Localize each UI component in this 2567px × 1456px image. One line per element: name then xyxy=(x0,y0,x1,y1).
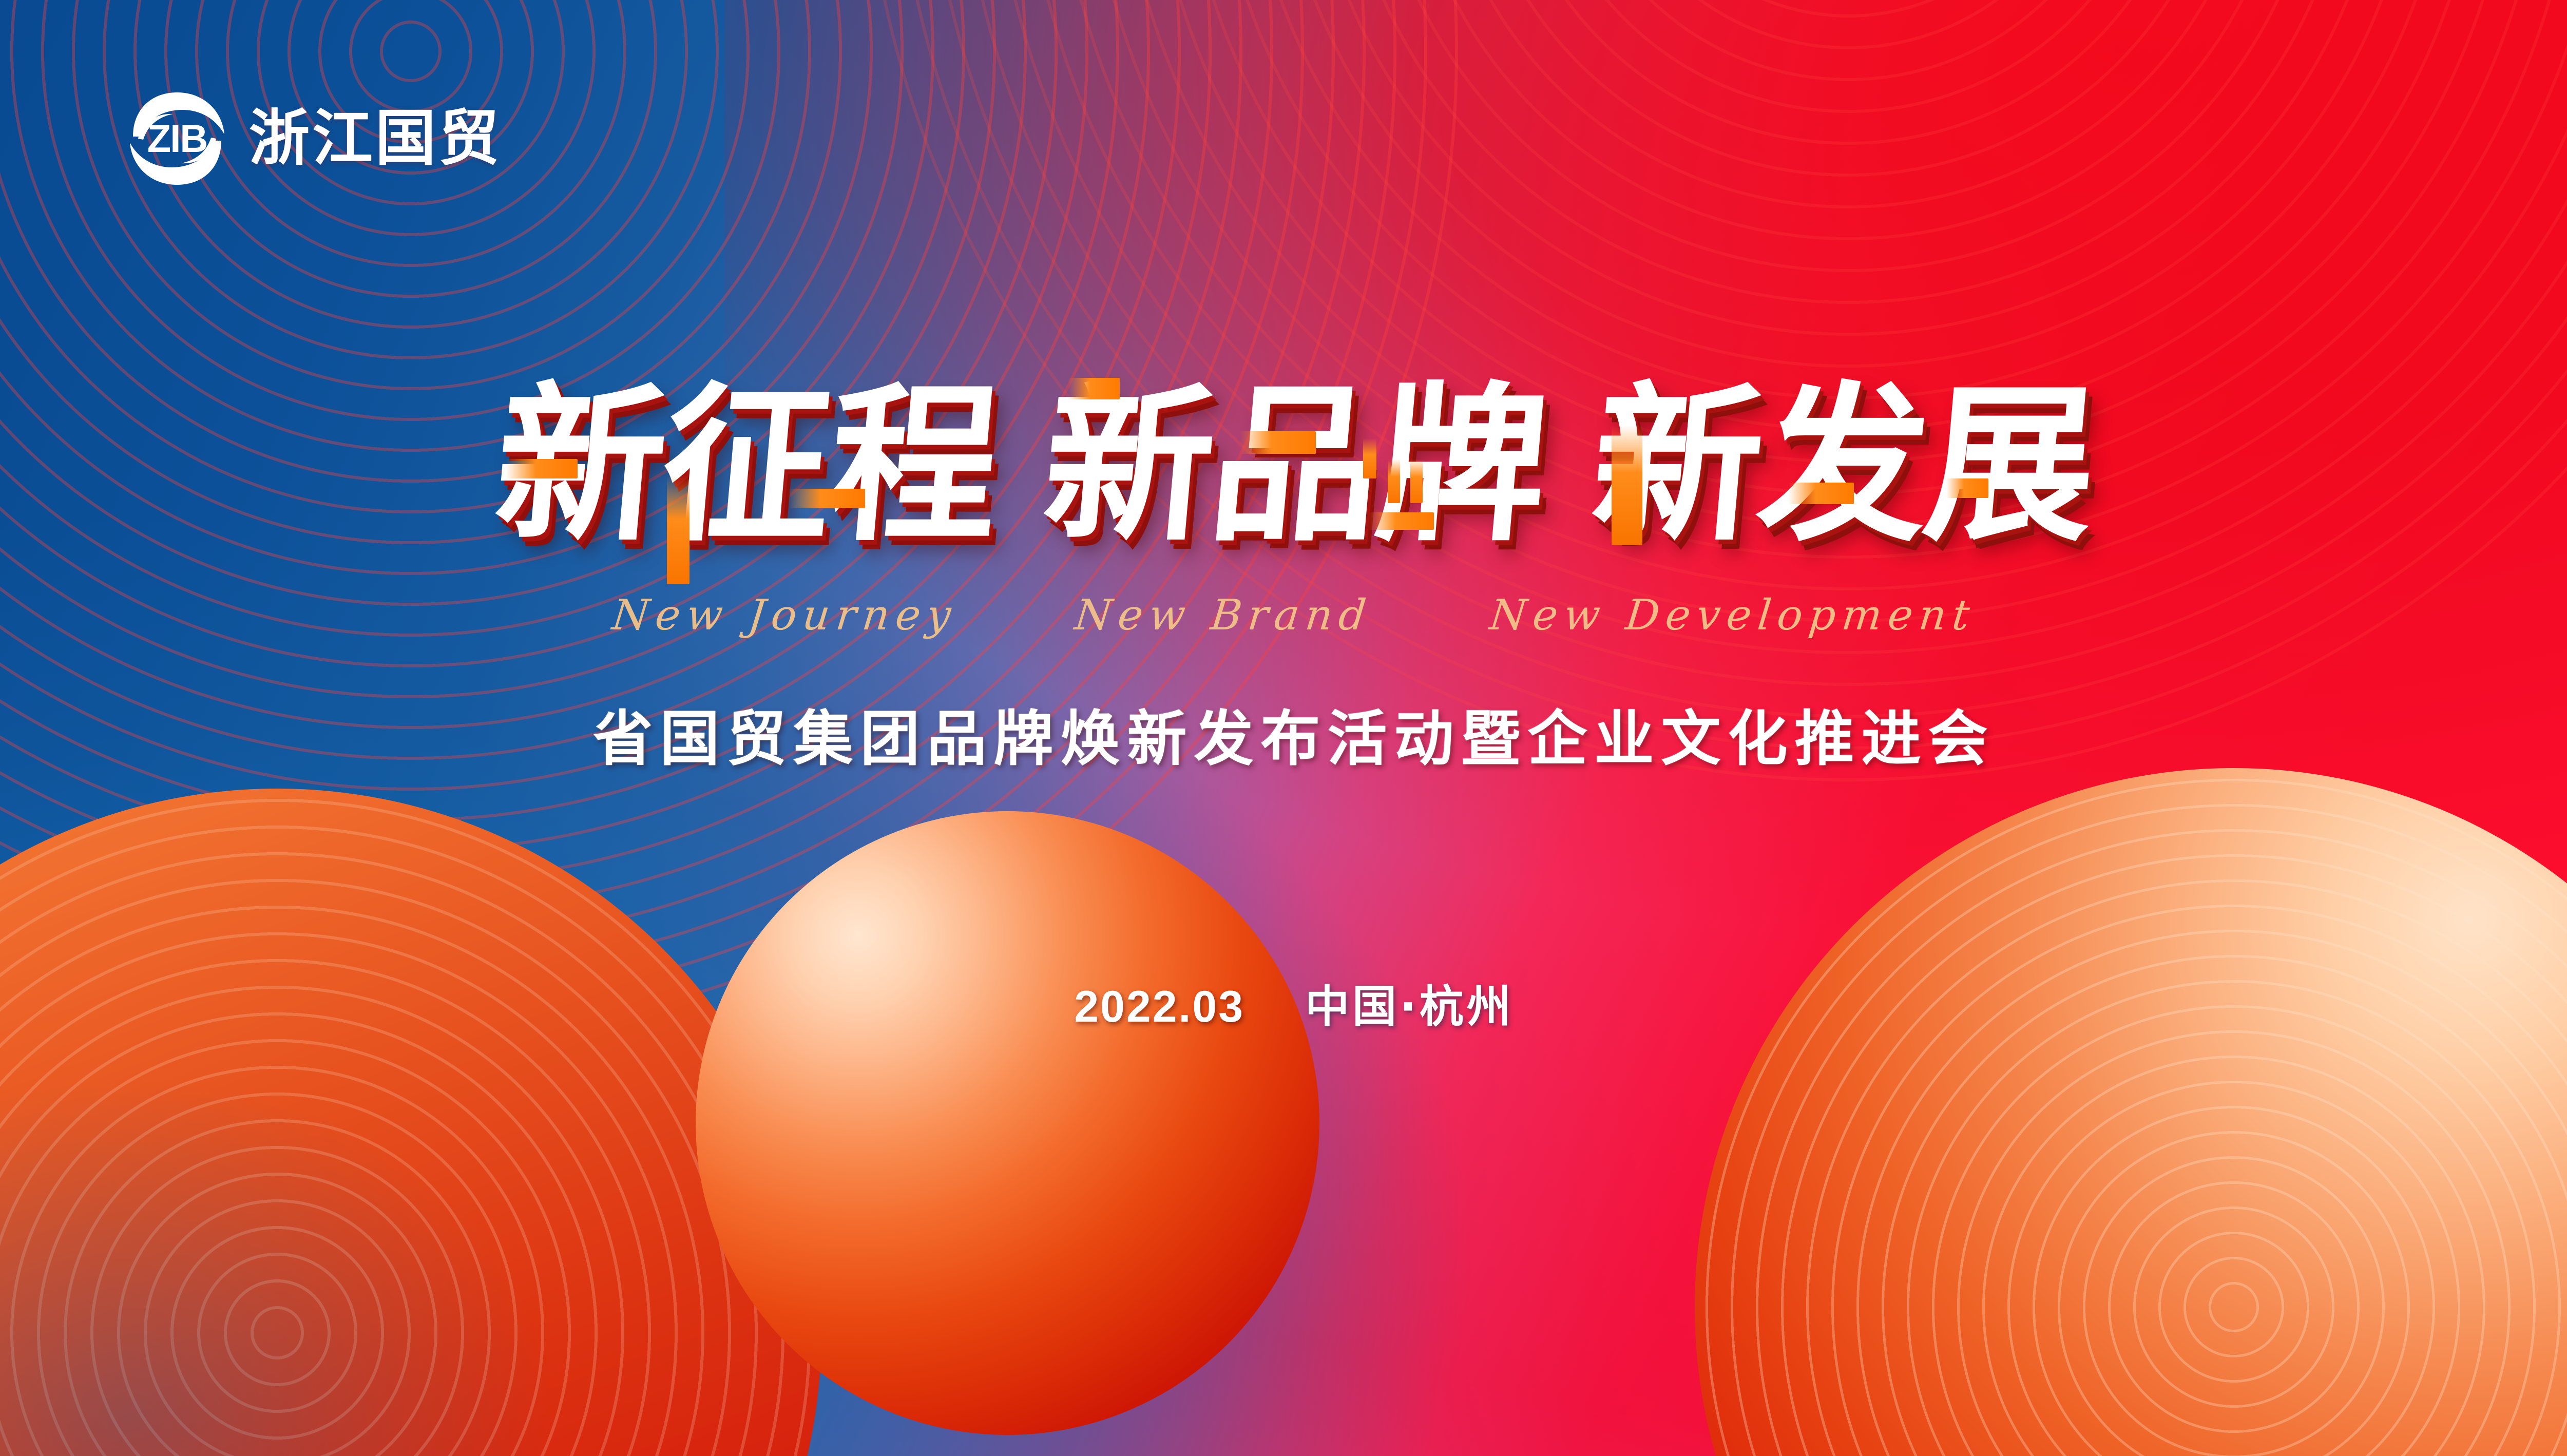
english-subtitle-1: New Journey xyxy=(610,595,959,637)
event-city: 中国·杭州 xyxy=(1305,985,1514,1029)
headline-word-3: 新发展 xyxy=(1593,381,2092,550)
event-date: 2022.03 xyxy=(1074,985,1244,1029)
english-subtitle-row: New Journey New Brand New Development xyxy=(0,595,2567,637)
zib-oval-swoosh-logo-icon: ZIB xyxy=(126,87,228,190)
headline-word-3-text: 新发展 xyxy=(1585,381,2099,550)
english-subtitle-3: New Development xyxy=(1488,595,1978,637)
decor-bottom-glow xyxy=(0,994,667,1456)
footer-row: 2022.03 中国·杭州 xyxy=(0,985,2567,1029)
event-subtitle: 省国贸集团品牌焕新发布活动暨企业文化推进会 xyxy=(0,706,2567,772)
zib-monogram: ZIB xyxy=(147,117,207,161)
headline-word-2: 新品牌 xyxy=(1045,381,1544,550)
headline-word-1-text: 新征程 xyxy=(489,381,1003,550)
decor-sphere-center xyxy=(696,811,1319,1435)
headline-word-2-text: 新品牌 xyxy=(1037,381,1551,550)
event-banner: ZIB 浙江国贸 新征程 新品牌 新发展 New xyxy=(0,0,2567,1456)
brand-logo[interactable]: ZIB 浙江国贸 xyxy=(126,87,502,190)
english-subtitle-2: New Brand xyxy=(1072,595,1374,637)
brand-logo-name: 浙江国贸 xyxy=(249,108,502,169)
headline-word-1: 新征程 xyxy=(496,381,995,550)
headline-row: 新征程 新品牌 新发展 xyxy=(0,381,2567,550)
